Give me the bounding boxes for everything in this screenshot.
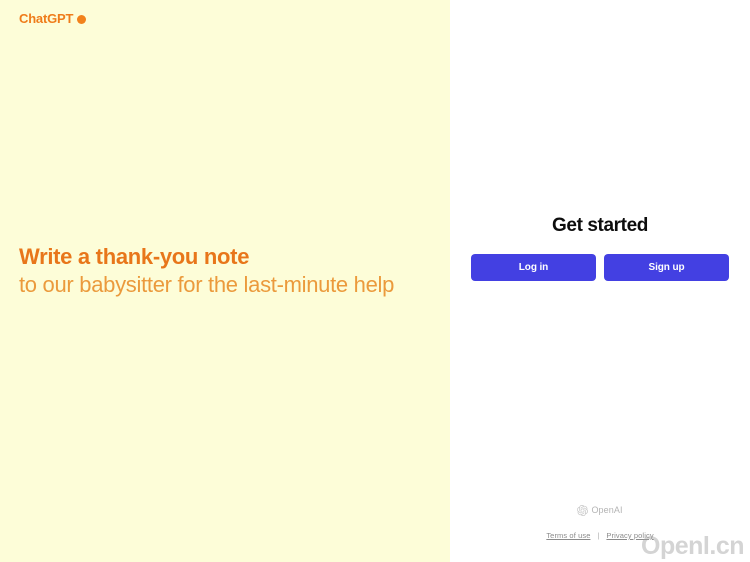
page-title: Get started [450, 214, 750, 238]
prompt-suggestion: Write a thank-you note to our babysitter… [19, 243, 419, 299]
privacy-policy-link[interactable]: Privacy policy [606, 531, 653, 540]
orange-dot-icon [77, 15, 86, 24]
chatgpt-welcome-screen: ChatGPT Write a thank-you note to our ba… [0, 0, 750, 562]
prompt-suggestion-bold-line: Write a thank-you note [19, 243, 419, 271]
right-auth-panel: Get started Log in Sign up OpenAI Terms … [450, 0, 750, 562]
signup-button[interactable]: Sign up [604, 254, 729, 281]
legal-links-separator: | [597, 531, 599, 540]
openai-blossom-icon [577, 505, 588, 516]
get-started-block: Get started Log in Sign up [450, 214, 750, 281]
footer: OpenAI Terms of use | Privacy policy [450, 505, 750, 540]
openai-label: OpenAI [591, 505, 622, 516]
left-promo-panel: ChatGPT Write a thank-you note to our ba… [0, 0, 450, 562]
auth-button-group: Log in Sign up [450, 254, 750, 281]
prompt-suggestion-rest-line: to our babysitter for the last-minute he… [19, 271, 419, 299]
login-button[interactable]: Log in [471, 254, 596, 281]
chatgpt-wordmark: ChatGPT [19, 11, 73, 27]
legal-links: Terms of use | Privacy policy [450, 531, 750, 540]
openai-branding: OpenAI [450, 505, 750, 516]
chatgpt-brand-logo: ChatGPT [19, 11, 86, 27]
terms-of-use-link[interactable]: Terms of use [546, 531, 590, 540]
